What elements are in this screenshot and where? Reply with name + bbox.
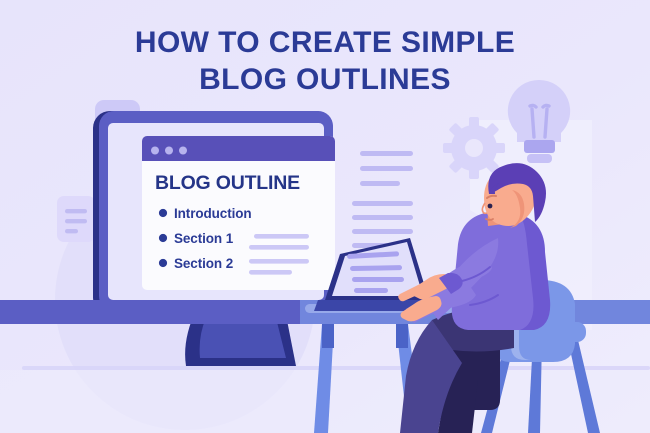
bullet-dot — [159, 234, 167, 242]
gear-icon — [443, 117, 505, 179]
traffic-light-dot[interactable] — [165, 147, 173, 155]
bullet-dot — [159, 259, 167, 267]
traffic-light-dot[interactable] — [151, 147, 159, 155]
eye — [488, 204, 493, 209]
floor-line — [22, 366, 650, 370]
browser-window[interactable] — [142, 136, 335, 290]
document-icon — [57, 196, 95, 242]
traffic-light-dot[interactable] — [179, 147, 187, 155]
desk-top-left — [0, 300, 320, 324]
mouth — [486, 219, 493, 220]
illustration-graphics — [0, 0, 650, 433]
bullet-dot — [159, 209, 167, 217]
illustration-canvas: HOW TO CREATE SIMPLE BLOG OUTLINES BLOG … — [0, 0, 650, 433]
